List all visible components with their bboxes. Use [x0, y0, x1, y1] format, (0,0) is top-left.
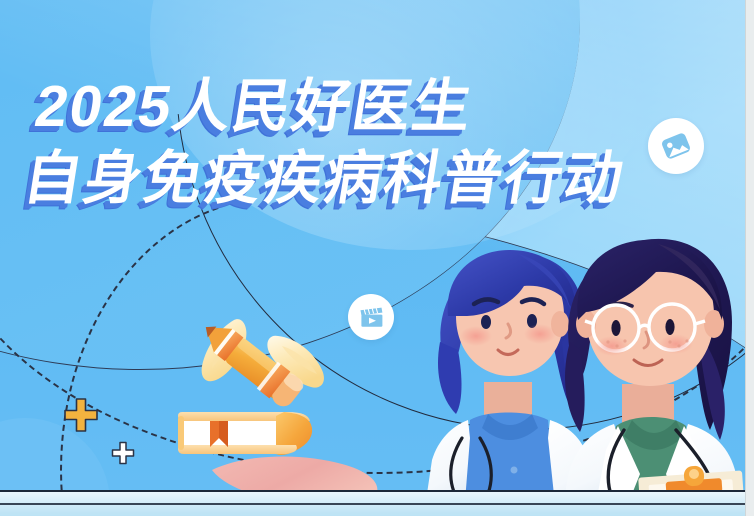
video-clapperboard-icon [357, 303, 385, 331]
poster-title: 2025人民好医生 自身免疫疾病科普行动 [20, 78, 641, 208]
winged-pencil [172, 312, 332, 420]
video-badge[interactable] [348, 294, 394, 340]
title-line-2: 自身免疫疾病科普行动 [20, 150, 629, 208]
image-badge[interactable] [648, 118, 704, 174]
desk-highlight-line [0, 503, 754, 505]
promo-poster: 2025人民好医生 自身免疫疾病科普行动 [0, 0, 754, 516]
right-edge-divider [745, 0, 746, 516]
plus-white-icon [110, 440, 136, 466]
doctor-right [562, 239, 746, 514]
right-edge-strip [746, 0, 754, 516]
image-icon [659, 129, 693, 163]
doctors-illustration [418, 224, 754, 514]
plus-orange-icon [62, 396, 100, 434]
title-line-1: 2025人民好医生 [31, 78, 640, 136]
